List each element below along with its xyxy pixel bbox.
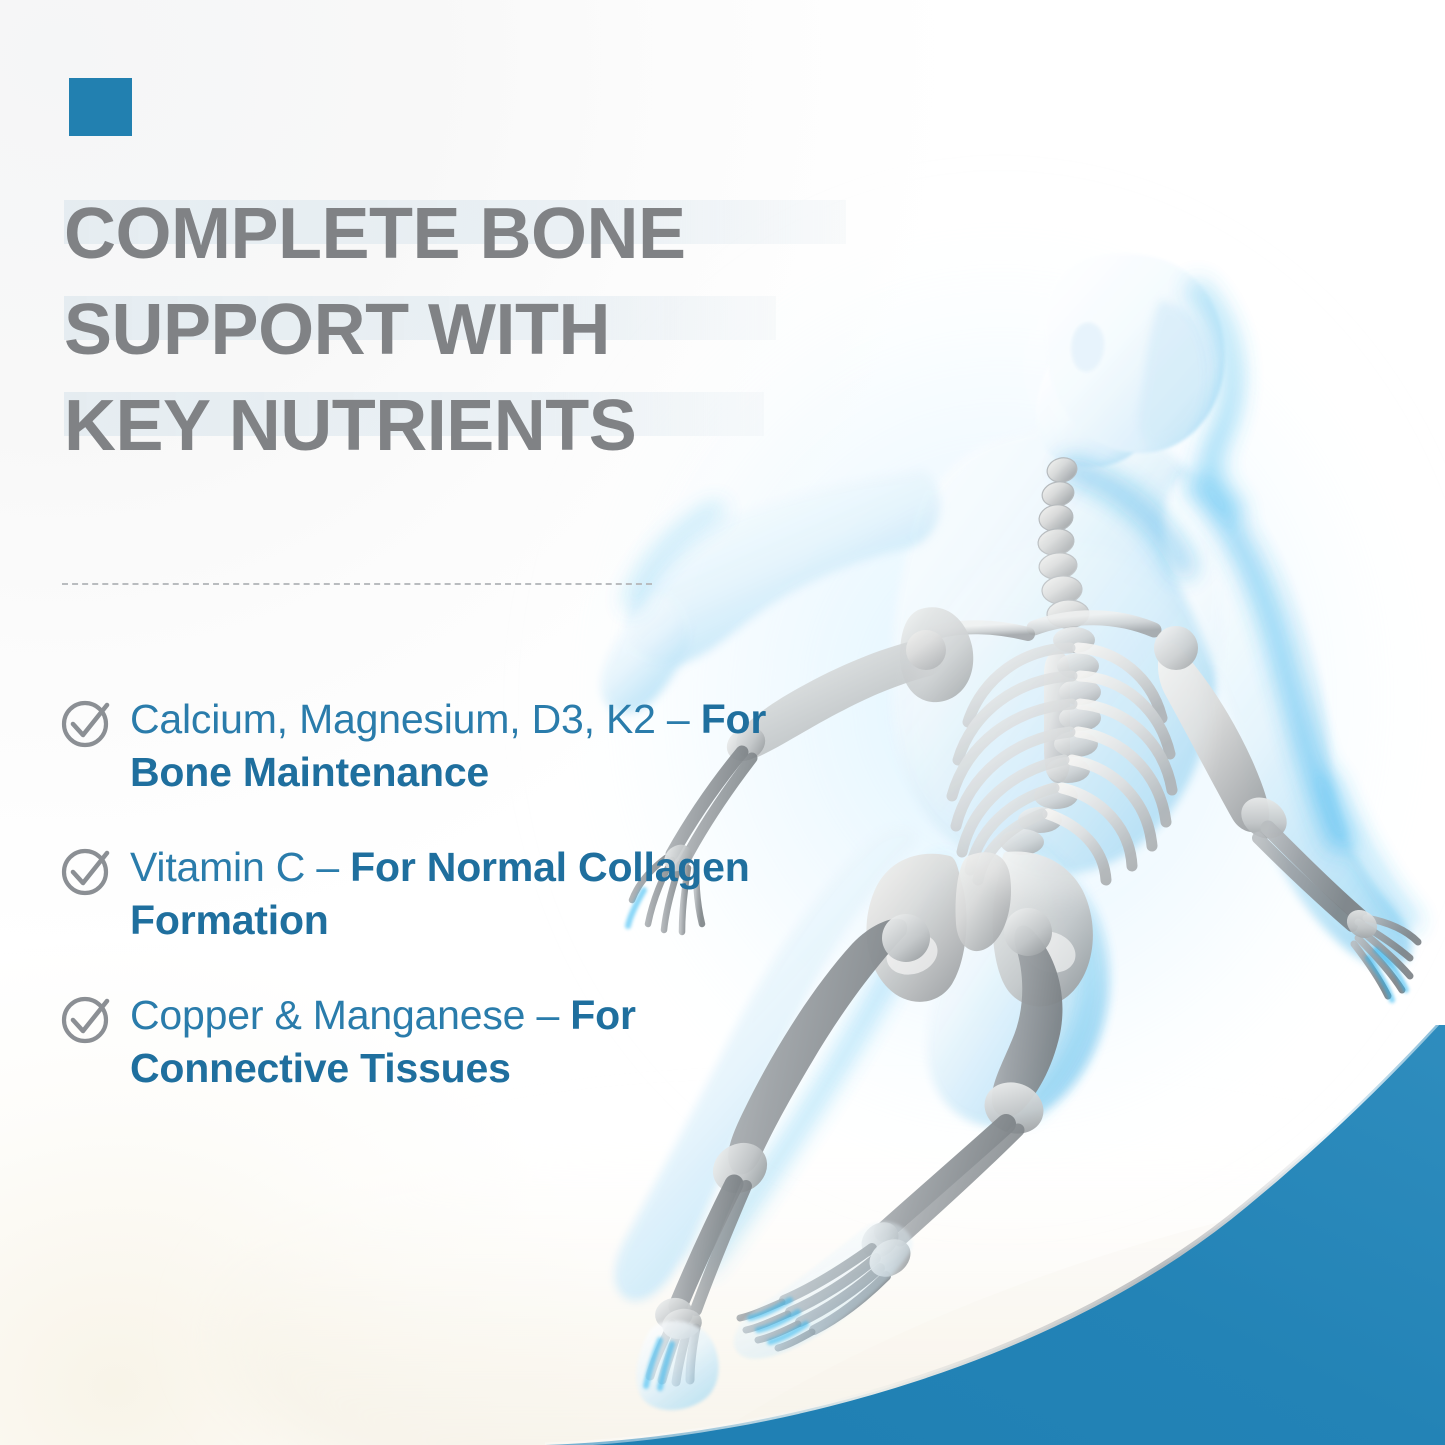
check-circle-icon [60,845,112,897]
poster-canvas: COMPLETE BONE SUPPORT WITH KEY NUTRIENTS… [0,0,1445,1445]
benefit-nutrients: Calcium, Magnesium, D3, K2 – [130,696,701,742]
list-item-text: Calcium, Magnesium, D3, K2 – For Bone Ma… [130,693,800,799]
bottom-right-blue-curve [545,1025,1445,1445]
list-item: Vitamin C – For Normal Collagen Formatio… [60,841,800,947]
check-circle-icon [60,993,112,1045]
page-title-line-3: KEY NUTRIENTS [64,378,854,474]
page-title-line-2: SUPPORT WITH [64,282,854,378]
dashed-divider [62,583,652,585]
benefit-nutrients: Copper & Manganese – [130,992,570,1038]
list-item: Calcium, Magnesium, D3, K2 – For Bone Ma… [60,693,800,799]
page-title-line-1: COMPLETE BONE [64,186,854,282]
benefit-nutrients: Vitamin C – [130,844,350,890]
page-title: COMPLETE BONE SUPPORT WITH KEY NUTRIENTS [64,186,854,474]
blue-square-accent [69,78,132,136]
check-circle-icon [60,697,112,749]
list-item-text: Vitamin C – For Normal Collagen Formatio… [130,841,800,947]
